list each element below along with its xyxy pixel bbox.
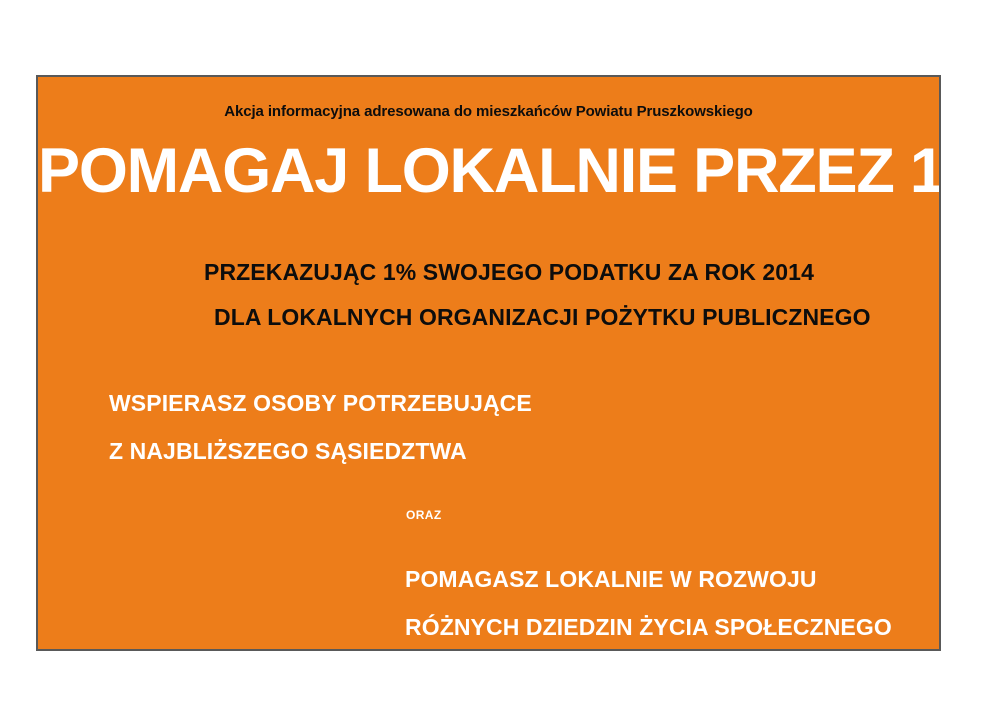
poster-benefit-two-line-1: POMAGASZ LOKALNIE W ROZWOJU [405,567,817,592]
poster-subheading-line-2: DLA LOKALNYCH ORGANIZACJI POŻYTKU PUBLIC… [214,305,871,330]
poster-subheading-line-1: PRZEKAZUJĄC 1% SWOJEGO PODATKU ZA ROK 20… [204,260,814,285]
poster-eyebrow-text: Akcja informacyjna adresowana do mieszka… [38,104,939,121]
poster-benefit-two-line-2: RÓŻNYCH DZIEDZIN ŻYCIA SPOŁECZNEGO [405,615,892,640]
poster-headline: POMAGAJ LOKALNIE PRZEZ 1% [38,138,939,204]
poster-benefit-one-line-2: Z NAJBLIŻSZEGO SĄSIEDZTWA [109,439,467,464]
poster-benefit-one-line-1: WSPIERASZ OSOBY POTRZEBUJĄCE [109,391,532,416]
poster-panel: Akcja informacyjna adresowana do mieszka… [36,75,941,651]
poster-connector-label: ORAZ [406,509,442,522]
poster-canvas: Akcja informacyjna adresowana do mieszka… [0,0,992,701]
